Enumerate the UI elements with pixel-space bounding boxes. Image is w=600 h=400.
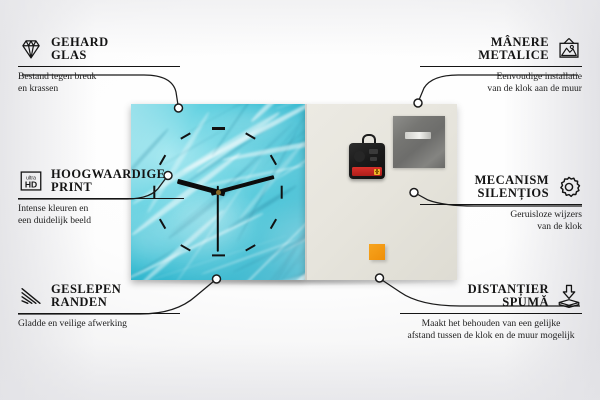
callout-title: GESLEPEN RANDEN bbox=[51, 283, 121, 309]
ultra-hd-icon: ultra HD bbox=[18, 168, 44, 194]
picture-frame-hanging-icon bbox=[556, 36, 582, 62]
callout-description: Bestand tegen breuk en krassen bbox=[18, 71, 180, 96]
callout-title-row: MECANISM SILENȚIOS bbox=[420, 174, 582, 200]
arrow-down-cushion-icon bbox=[556, 283, 582, 309]
callout-rule bbox=[18, 198, 184, 199]
callout-distantier-spuma[interactable]: DISTANȚIER SPUMĂ Maakt het behouden van … bbox=[400, 283, 582, 342]
callout-gehard-glas[interactable]: GEHARD GLAS Bestand tegen breuk en krass… bbox=[18, 36, 180, 95]
callout-description: Gladde en veilige afwerking bbox=[18, 318, 180, 330]
callout-title: GEHARD GLAS bbox=[51, 36, 109, 62]
callout-title: DISTANȚIER SPUMĂ bbox=[468, 283, 549, 309]
beveled-edges-icon bbox=[18, 283, 44, 309]
callout-title-row: GEHARD GLAS bbox=[18, 36, 180, 62]
infographic-stage: GEHARD GLAS Bestand tegen breuk en krass… bbox=[0, 0, 600, 400]
callout-rule bbox=[18, 313, 180, 314]
callout-rule bbox=[420, 204, 582, 205]
diamond-icon bbox=[18, 36, 44, 62]
callout-description: Intense kleuren en een duidelijk beeld bbox=[18, 203, 184, 228]
callout-rule bbox=[18, 66, 180, 67]
callout-title-row: GESLEPEN RANDEN bbox=[18, 283, 180, 309]
callout-title: MECANISM SILENȚIOS bbox=[475, 174, 549, 200]
callout-description: Maakt het behouden van een gelijke afsta… bbox=[400, 318, 582, 343]
callout-title-row: ultra HD HOOGWAARDIGE PRINT bbox=[18, 168, 184, 194]
callout-title: HOOGWAARDIGE PRINT bbox=[51, 168, 165, 194]
wire-dot-metalice bbox=[414, 99, 422, 107]
callout-description: Geruisloze wijzers van de klok bbox=[420, 209, 582, 234]
callout-title-row: DISTANȚIER SPUMĂ bbox=[400, 283, 582, 309]
callout-mecanism-silentios[interactable]: MECANISM SILENȚIOS Geruisloze wijzers va… bbox=[420, 174, 582, 233]
wire-dot-spuma bbox=[376, 274, 384, 282]
callout-hoogwaardige-print[interactable]: ultra HD HOOGWAARDIGE PRINT Intense kleu… bbox=[18, 168, 184, 227]
callout-rule bbox=[420, 66, 582, 67]
callout-description: Eenvoudige installatie van de klok aan d… bbox=[420, 71, 582, 96]
callout-geslepen-randen[interactable]: GESLEPEN RANDEN Gladde en veilige afwerk… bbox=[18, 283, 180, 330]
callout-manere-metalice[interactable]: MÂNERE METALICE Eenvoudige installatie v… bbox=[420, 36, 582, 95]
callout-rule bbox=[400, 313, 582, 314]
wire-dot-mecanism bbox=[410, 189, 418, 197]
wire-dot-gehard-glas bbox=[175, 104, 183, 112]
svg-text:HD: HD bbox=[25, 180, 37, 190]
wire-dot-randen bbox=[213, 275, 221, 283]
callout-title: MÂNERE METALICE bbox=[478, 36, 549, 62]
gear-icon bbox=[556, 174, 582, 200]
callout-title-row: MÂNERE METALICE bbox=[420, 36, 582, 62]
